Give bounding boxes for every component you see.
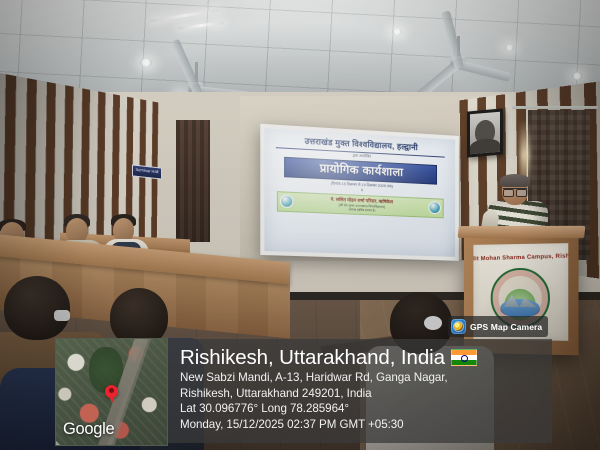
speaker-glasses: [503, 188, 527, 194]
projector-screen: उत्तराखंड मुक्त विश्वविद्यालय, हल्द्वानी…: [264, 128, 455, 257]
location-pin-icon: [105, 385, 118, 398]
projector-screen-frame: उत्तराखंड मुक्त विश्वविद्यालय, हल्द्वानी…: [260, 124, 459, 261]
left-curtain: [176, 120, 210, 242]
map-thumbnail[interactable]: Google: [55, 338, 168, 446]
timestamp: Monday, 15/12/2025 02:37 PM GMT +05:30: [180, 417, 542, 433]
location-title: Rishikesh, Uttarakhand, India: [180, 345, 445, 370]
ceiling-downlight: [392, 28, 402, 35]
face-mask: [54, 310, 70, 321]
ceiling-downlight: [572, 72, 582, 80]
podium-top: [458, 226, 586, 238]
slide-venue-text: पं. ललित मोहन शर्मा परिसर, ऋषिकेश (श्री …: [297, 195, 425, 215]
portrait-photo: [470, 112, 500, 155]
india-flag-icon: [451, 349, 477, 366]
gps-map-camera-badge: GPS Map Camera: [448, 316, 548, 337]
location-title-row: Rishikesh, Uttarakhand, India: [180, 345, 542, 370]
location-info-panel: Rishikesh, Uttarakhand, India New Sabzi …: [168, 339, 552, 443]
wall-sign-label: Seminar Hall: [133, 166, 161, 175]
ceiling-downlight: [140, 58, 152, 67]
framed-portrait: [467, 108, 503, 157]
presentation-slide: उत्तराखंड मुक्त विश्वविद्यालय, हल्द्वानी…: [272, 135, 449, 251]
gps-map-camera-label: GPS Map Camera: [470, 322, 542, 332]
slide-venue-row: पं. ललित मोहन शर्मा परिसर, ऋषिकेश (श्री …: [277, 191, 443, 218]
address-line-2: Rishikesh, Uttarakhand 249201, India: [180, 386, 542, 402]
slide-title: प्रायोगिक कार्यशाला: [286, 160, 436, 180]
google-logo: Google: [63, 420, 114, 439]
slide-ampersand: &: [361, 188, 363, 193]
person-head: [4, 276, 70, 340]
ceiling-downlight: [505, 44, 514, 51]
slide-title-band: प्रायोगिक कार्यशाला: [285, 157, 437, 184]
portrait-body-shape: [470, 138, 500, 155]
slide-header-sub: द्वारा आयोजित: [353, 153, 372, 159]
university-emblem-icon: [280, 195, 293, 209]
speaker-hair: [500, 174, 530, 187]
address-line-1: New Sabzi Mandi, A-13, Haridwar Rd, Gang…: [180, 370, 542, 386]
gps-map-camera-photo: Seminar Hall उत्तराखंड मुक्त विश्वविद्या…: [0, 0, 600, 450]
campus-emblem-icon: [428, 201, 440, 214]
podium-banner-text: Pt. Lalit Mohan Sharma Campus, Rishikesh: [473, 253, 568, 263]
curtain-rod: [512, 106, 598, 109]
hair-clip: [424, 316, 442, 330]
gps-camera-app-icon: [451, 319, 466, 334]
coordinates: Lat 30.096776° Long 78.285964°: [180, 401, 542, 417]
